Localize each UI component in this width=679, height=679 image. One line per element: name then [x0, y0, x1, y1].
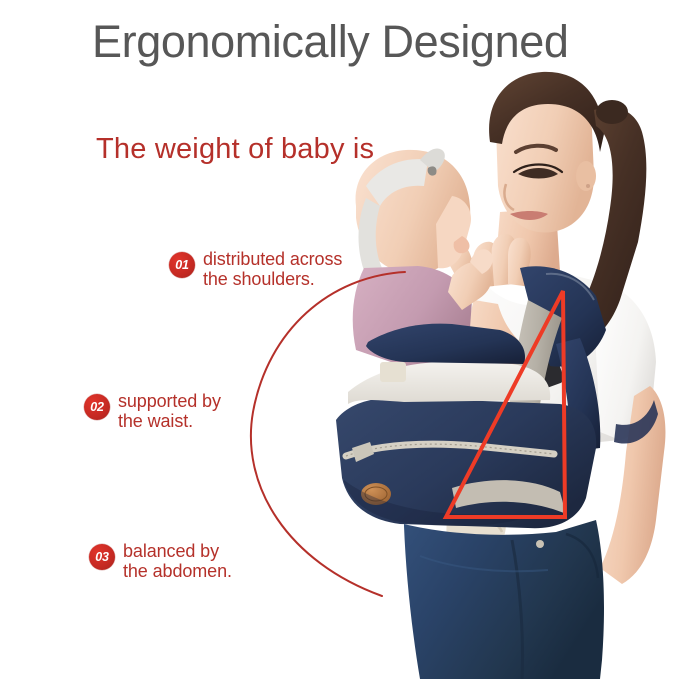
callout-02: 02 supported by the waist.	[84, 392, 221, 431]
callout-text-03: balanced by the abdomen.	[123, 542, 232, 581]
callout-03: 03 balanced by the abdomen.	[89, 542, 232, 581]
callout-01: 01 distributed across the shoulders.	[169, 250, 342, 289]
callout-badge-03: 03	[89, 544, 115, 570]
callout-badge-02: 02	[84, 394, 110, 420]
triangle-path	[446, 291, 565, 517]
infographic-canvas: Ergonomically Designed The weight of bab…	[0, 0, 679, 679]
callout-text-01: distributed across the shoulders.	[203, 250, 342, 289]
callout-text-02: supported by the waist.	[118, 392, 221, 431]
callout-badge-01: 01	[169, 252, 195, 278]
